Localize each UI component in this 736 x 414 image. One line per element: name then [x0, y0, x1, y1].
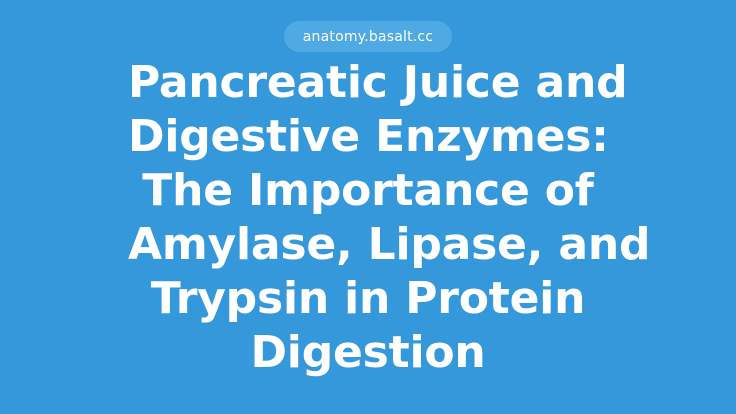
title-line-5: Trypsin in Protein	[128, 272, 608, 326]
title-line-6: Digestion	[128, 326, 608, 380]
title-line-2: Digestive Enzymes:	[128, 110, 608, 164]
site-domain-badge[interactable]: anatomy.basalt.cc	[284, 21, 452, 52]
site-domain-label: anatomy.basalt.cc	[303, 30, 433, 44]
title-line-3: The Importance of	[128, 164, 608, 218]
page-title: Pancreatic Juice and Digestive Enzymes: …	[128, 56, 608, 380]
article-title-card: anatomy.basalt.cc Pancreatic Juice and D…	[0, 0, 736, 414]
title-line-1: Pancreatic Juice and	[128, 56, 608, 110]
title-line-4: Amylase, Lipase, and	[128, 218, 608, 272]
